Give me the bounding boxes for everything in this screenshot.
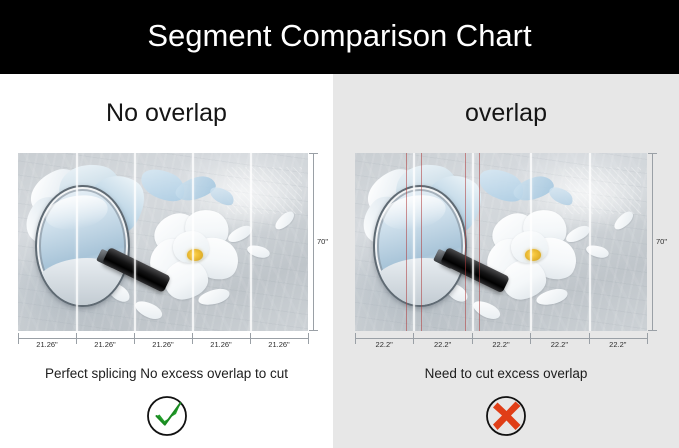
seam-line <box>134 153 136 331</box>
segment-width-label: 21.26" <box>210 340 231 350</box>
panel-no-overlap: No overlap <box>0 74 333 448</box>
dimension-tick <box>589 333 590 344</box>
height-label-left: 70" <box>317 237 328 247</box>
width-dimensions-right: 22.2" 22.2" 22.2" 22.2" 22.2" <box>355 332 647 350</box>
panel-heading-right: overlap <box>333 98 679 128</box>
overlap-cut-line <box>421 153 422 331</box>
dimension-cap <box>648 153 657 154</box>
segment-width-label: 22.2" <box>551 340 568 350</box>
dimension-cap <box>309 153 318 154</box>
dimension-line <box>18 338 308 339</box>
seam-line <box>530 153 532 331</box>
mural-artwork-left <box>18 153 308 331</box>
dimension-line <box>355 338 647 339</box>
dimension-tick <box>250 333 251 344</box>
dimension-tick <box>472 333 473 344</box>
comparison-chart-page: Segment Comparison Chart No overlap <box>0 0 679 448</box>
dimension-tick <box>18 333 19 344</box>
caption-left: Perfect splicing No excess overlap to cu… <box>0 365 333 383</box>
seam-line <box>250 153 252 331</box>
dimension-line <box>313 153 314 331</box>
cross-circle-icon <box>484 394 528 438</box>
segment-width-label: 22.2" <box>434 340 451 350</box>
dimension-tick <box>355 333 356 344</box>
dimension-tick <box>308 333 309 344</box>
dimension-tick <box>647 333 648 344</box>
verdict-right <box>333 394 679 438</box>
dimension-tick <box>76 333 77 344</box>
segment-width-label: 21.26" <box>268 340 289 350</box>
segment-width-label: 21.26" <box>94 340 115 350</box>
panel-seams-right <box>355 153 647 331</box>
dimension-tick <box>530 333 531 344</box>
mural-figure-left <box>18 153 308 331</box>
caption-right: Need to cut excess overlap <box>333 365 679 383</box>
height-dimension-right: 70" <box>647 153 669 331</box>
segment-width-label: 22.2" <box>376 340 393 350</box>
segment-width-label: 21.26" <box>36 340 57 350</box>
check-circle-icon <box>145 394 189 438</box>
overlap-cut-line <box>479 153 480 331</box>
overlap-cut-line <box>406 153 407 331</box>
panel-overlap: overlap <box>333 74 679 448</box>
segment-width-label: 21.26" <box>152 340 173 350</box>
dimension-cap <box>648 330 657 331</box>
width-dimensions-left: 21.26" 21.26" 21.26" 21.26" 21.26" <box>18 332 308 350</box>
segment-width-label: 22.2" <box>609 340 626 350</box>
mural-artwork-right <box>355 153 647 331</box>
panel-heading-left: No overlap <box>0 98 333 128</box>
segment-width-label: 22.2" <box>492 340 509 350</box>
verdict-left <box>0 394 333 438</box>
panel-seams-left <box>18 153 308 331</box>
seam-line <box>76 153 78 331</box>
seam-line <box>192 153 194 331</box>
dimension-tick <box>413 333 414 344</box>
dimension-tick <box>134 333 135 344</box>
seam-line <box>472 153 474 331</box>
seam-line <box>413 153 415 331</box>
page-title: Segment Comparison Chart <box>0 16 679 56</box>
height-dimension-left: 70" <box>308 153 330 331</box>
dimension-line <box>652 153 653 331</box>
seam-line <box>589 153 591 331</box>
height-label-right: 70" <box>656 237 667 247</box>
dimension-tick <box>192 333 193 344</box>
dimension-cap <box>309 330 318 331</box>
overlap-cut-line <box>465 153 466 331</box>
header-bar: Segment Comparison Chart <box>0 0 679 74</box>
mural-figure-right <box>355 153 647 331</box>
